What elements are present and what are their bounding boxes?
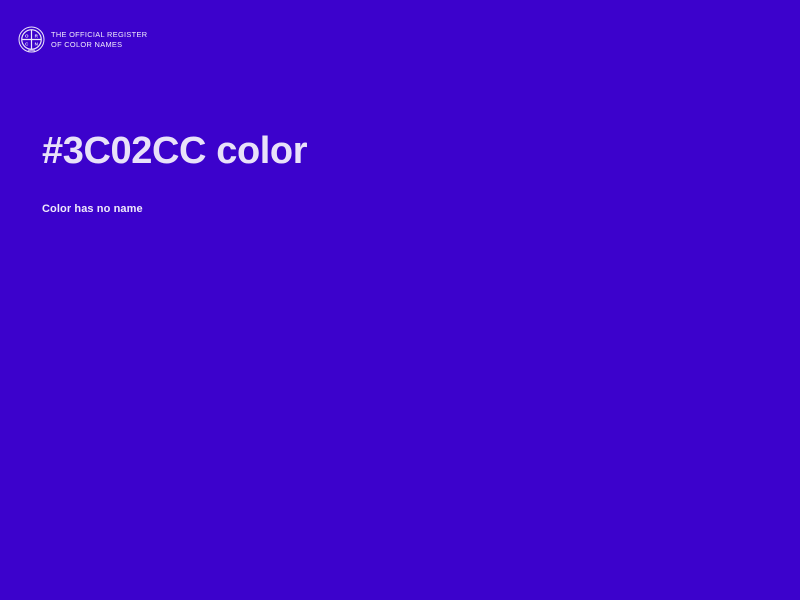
color-name-status: Color has no name xyxy=(42,174,742,216)
svg-text:N: N xyxy=(35,41,38,46)
page-title: #3C02CC color xyxy=(42,128,742,174)
svg-text:C: C xyxy=(25,41,29,46)
color-page: O R C N THE OFFICIAL REGISTER OF COLOR N… xyxy=(0,0,800,600)
svg-text:R: R xyxy=(35,33,39,38)
brand-text-line-1: THE OFFICIAL REGISTER xyxy=(51,30,147,40)
color-info: #3C02CC color Color has no name xyxy=(42,128,742,216)
svg-text:O: O xyxy=(25,33,29,38)
brand-lockup[interactable]: O R C N THE OFFICIAL REGISTER OF COLOR N… xyxy=(18,26,147,53)
orcn-circular-seal-icon: O R C N xyxy=(18,26,45,53)
brand-text-line-2: OF COLOR NAMES xyxy=(51,40,147,50)
brand-text: THE OFFICIAL REGISTER OF COLOR NAMES xyxy=(51,29,147,49)
